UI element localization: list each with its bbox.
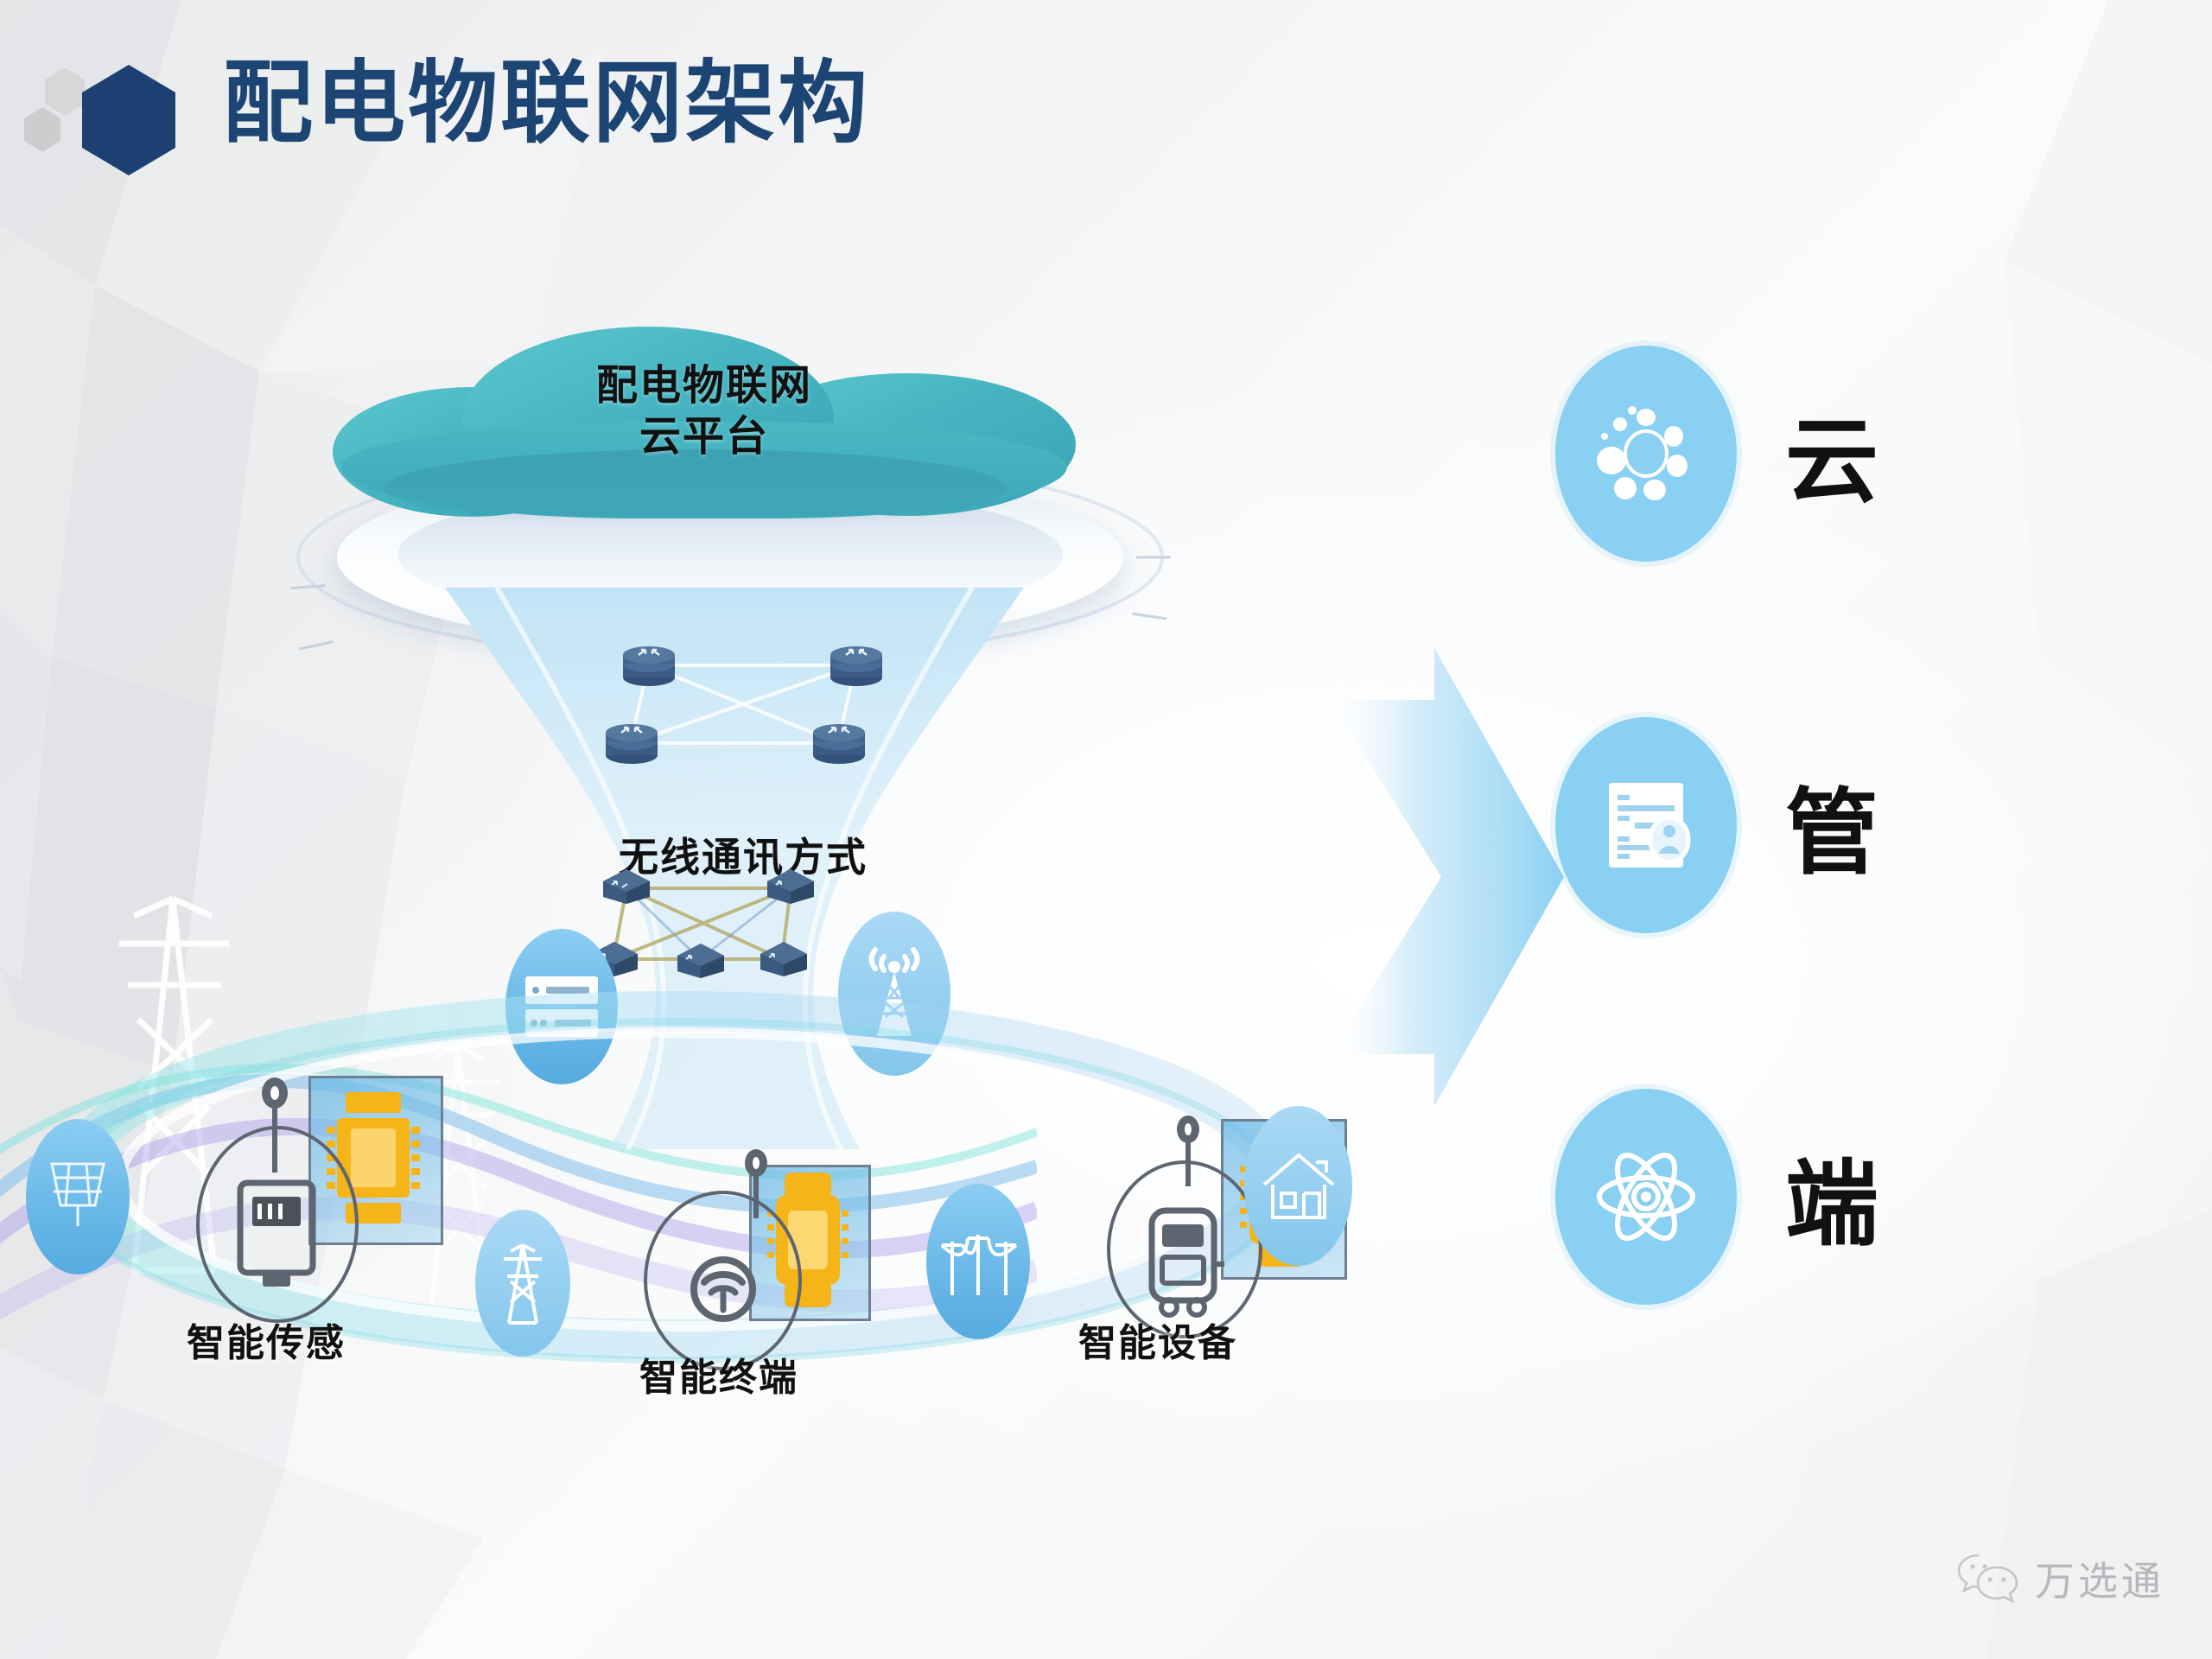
watermark: 万选通 [1957, 1550, 2164, 1607]
smart-terminal-group [635, 1149, 886, 1365]
wifi-terminal-icon [680, 1244, 766, 1331]
right-layer-column: 云 管 [1555, 346, 2022, 1434]
layer-label-cloud: 云 [1785, 386, 1880, 521]
house-icon [1259, 1148, 1338, 1224]
router-icon [618, 638, 680, 690]
cloud-layer-badge [1555, 346, 1737, 562]
page-header: 配电物联网架构 [0, 0, 2212, 207]
sensor-antenna-icon [253, 1077, 296, 1173]
hexagon-decor-small-icon [24, 107, 60, 152]
network-switch-icon-5 [674, 940, 728, 980]
transmission-tower-badge [475, 1210, 570, 1357]
router-icon-4 [808, 715, 870, 767]
hexagon-logo-icon [82, 65, 175, 175]
cloud-molecule-icon [1594, 402, 1698, 505]
power-line-icon [938, 1224, 1018, 1299]
network-switch-icon-4 [757, 938, 810, 978]
manage-layer-badge [1555, 717, 1737, 933]
smart-terminal-label: 智能终端 [639, 1346, 798, 1402]
cloud-label-line1: 配电物联网 [333, 361, 1076, 412]
layer-label-edge: 端 [1785, 1129, 1880, 1264]
smart-device-label: 智能设备 [1078, 1312, 1237, 1367]
smart-sensor-group [186, 1076, 445, 1318]
cloud-platform-label: 配电物联网 云平台 [333, 361, 1076, 462]
solar-panel-badge [26, 1119, 130, 1274]
network-switch-icon [600, 866, 653, 906]
network-switch-icon-2 [764, 866, 817, 906]
solar-panel-icon [41, 1155, 114, 1238]
layer-item-manage[interactable]: 管 [1555, 717, 1880, 933]
smart-sensor-label: 智能传感 [187, 1312, 346, 1367]
transmission-tower-icon [492, 1238, 554, 1328]
cloud-label-line2: 云平台 [333, 412, 1076, 463]
sensor-meter-icon [233, 1178, 320, 1290]
layer-item-edge[interactable]: 端 [1555, 1089, 1880, 1305]
edge-layer-badge [1555, 1089, 1737, 1305]
power-line-badge [926, 1184, 1030, 1339]
layer-item-cloud[interactable]: 云 [1555, 346, 1880, 562]
router-icon-2 [825, 638, 887, 690]
cloud-shape: 配电物联网 云平台 [333, 320, 1076, 518]
server-document-icon [1595, 774, 1697, 876]
page-title: 配电物联网架构 [223, 48, 870, 160]
watermark-text: 万选通 [2035, 1550, 2164, 1607]
router-icon-3 [601, 715, 663, 767]
device-antenna-icon [1169, 1116, 1207, 1186]
wechat-icon [1957, 1552, 2019, 1605]
train-icon [1138, 1205, 1228, 1321]
hexagon-decor-mid-icon [45, 67, 85, 116]
layer-label-manage: 管 [1785, 758, 1880, 893]
atom-icon [1592, 1143, 1700, 1250]
terminal-antenna-icon [737, 1149, 775, 1218]
